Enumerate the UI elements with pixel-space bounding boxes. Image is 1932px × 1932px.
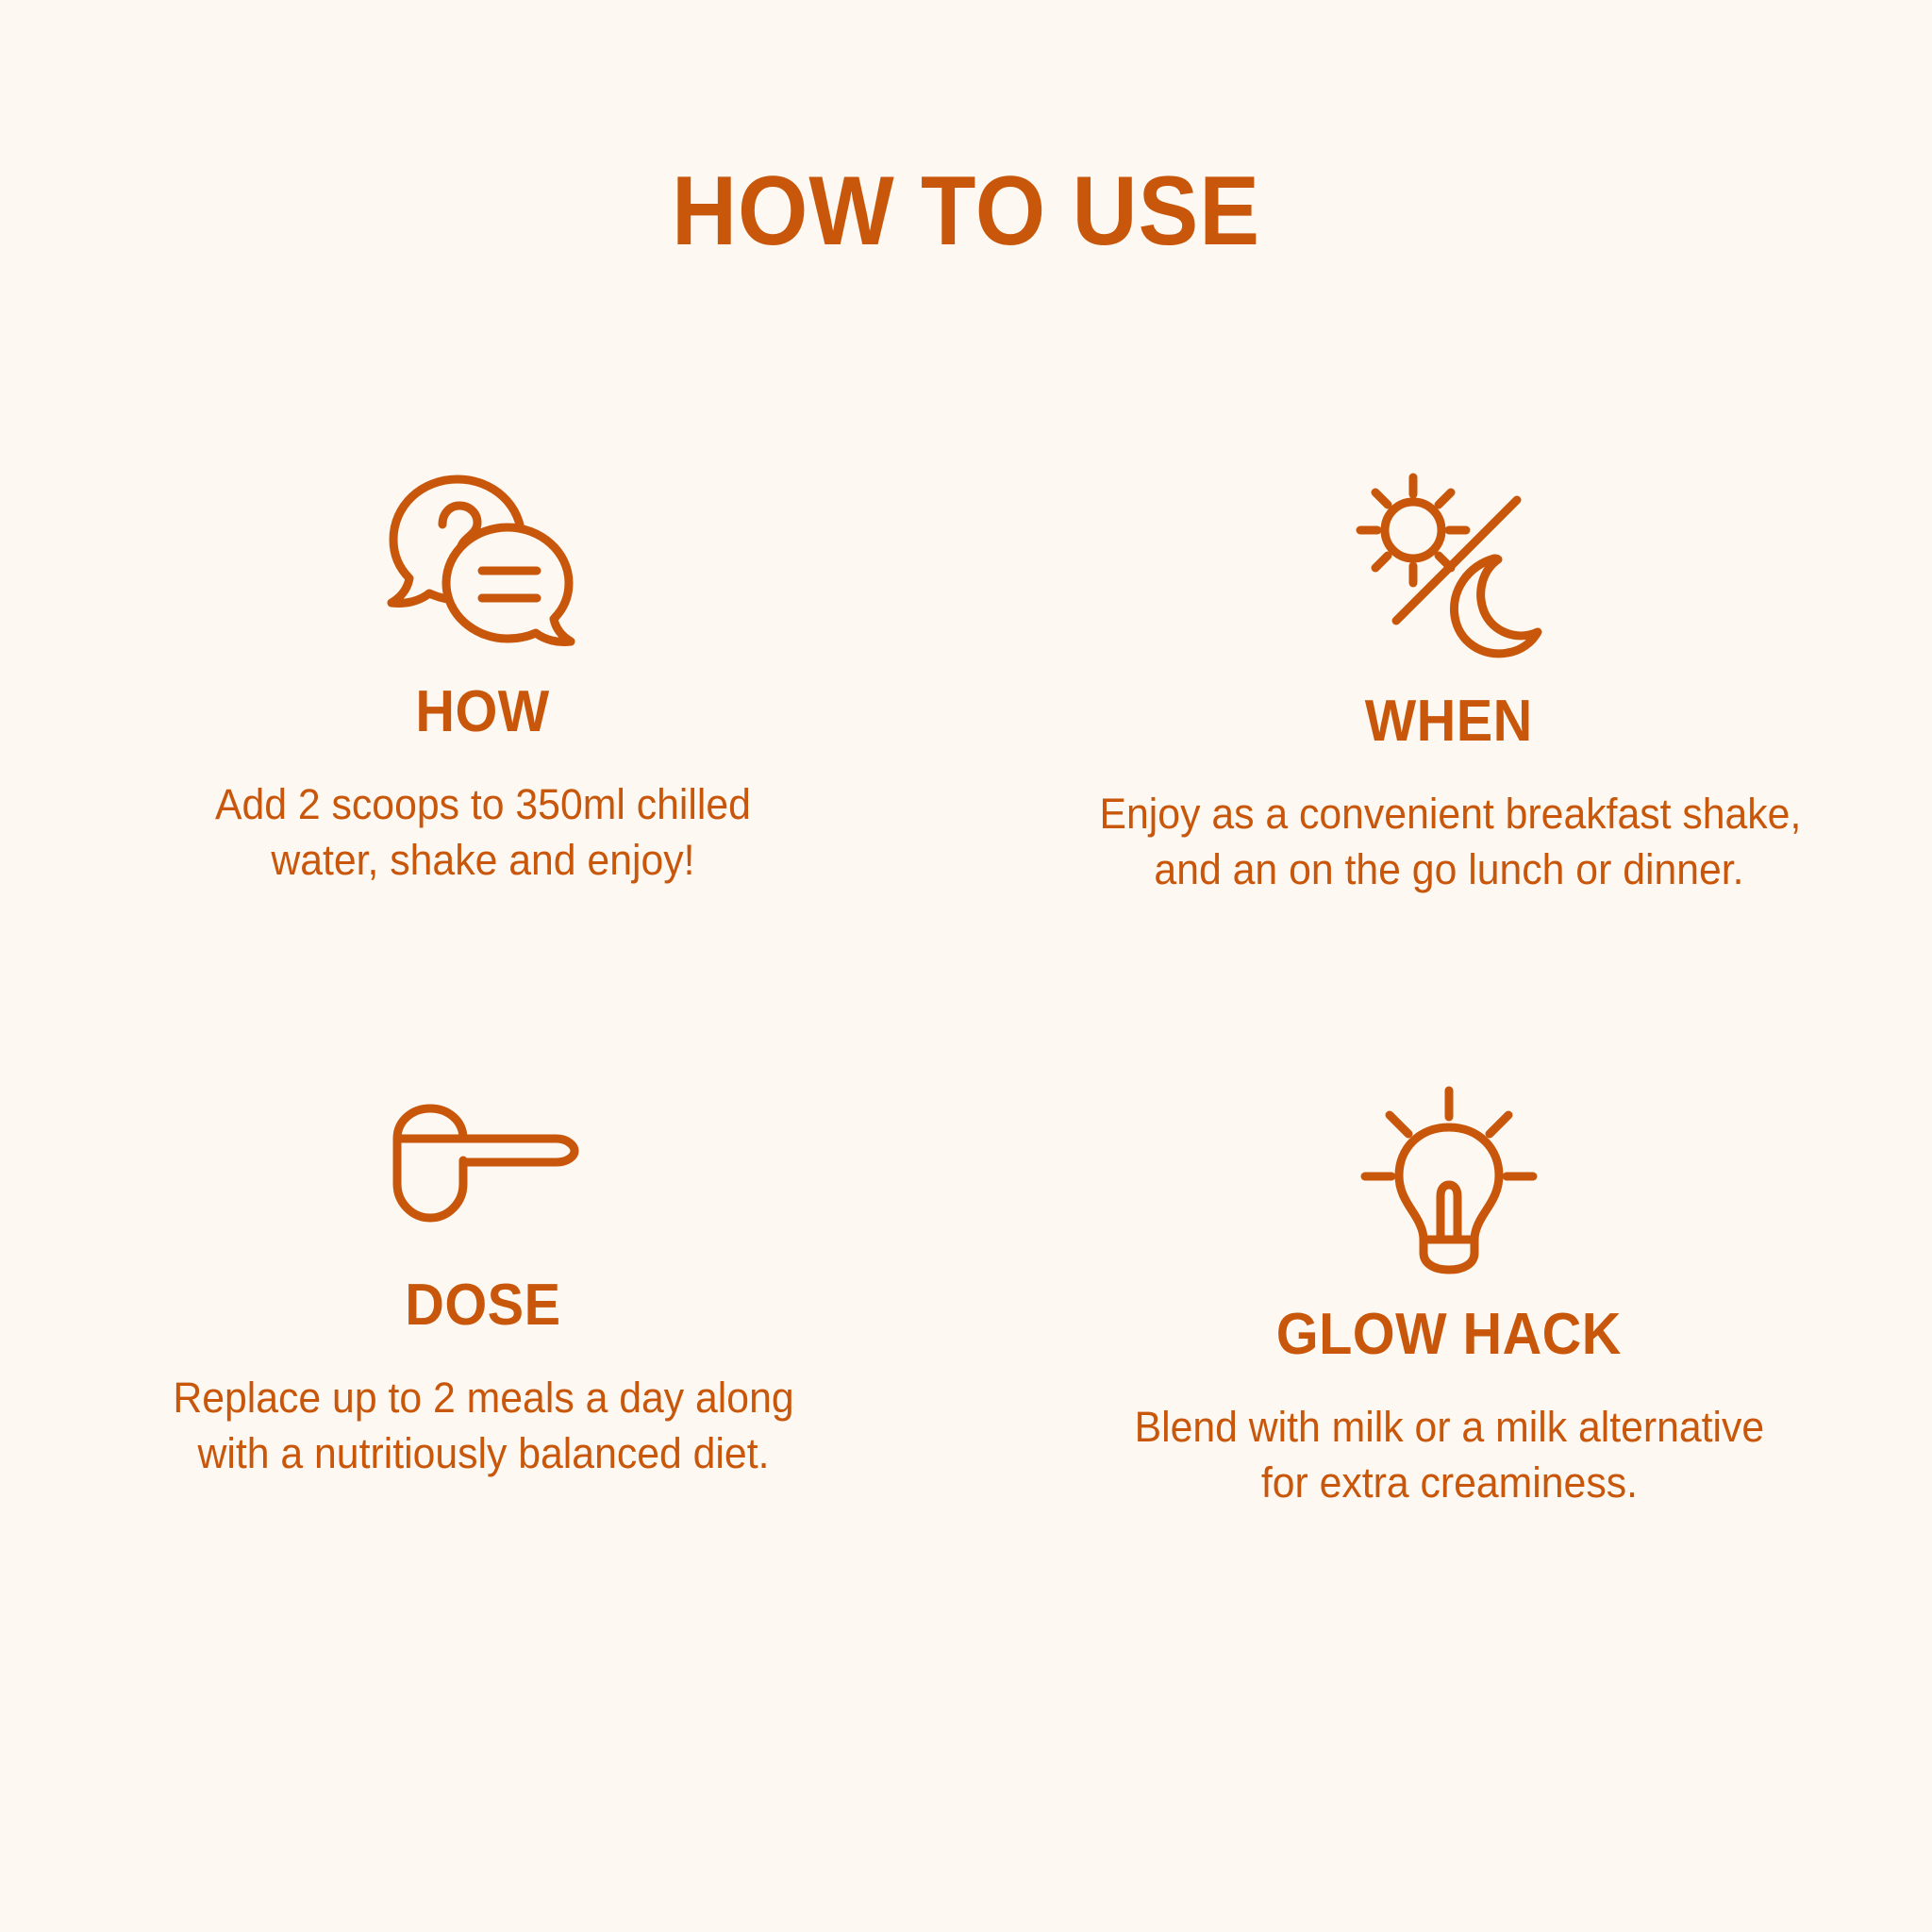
- page-title: HOW TO USE: [77, 158, 1855, 264]
- section-dose: DOSE Replace up to 2 meals a day along w…: [0, 1085, 966, 1481]
- section-body-line: Replace up to 2 meals a day along: [173, 1371, 793, 1426]
- how-to-use-infographic: HOW TO USE HOW Add 2 scoops to 35: [0, 0, 1932, 1932]
- section-body-line: Blend with milk or a milk alternative: [1134, 1400, 1764, 1456]
- section-body-line: Enjoy as a convenient breakfast shake,: [1100, 787, 1799, 842]
- section-body-dose: Replace up to 2 meals a day along with a…: [173, 1371, 793, 1481]
- section-title-glow-hack: GLOW HACK: [1276, 1306, 1622, 1364]
- section-body-when: Enjoy as a convenient breakfast shake, a…: [1100, 787, 1799, 897]
- section-body-how: Add 2 scoops to 350ml chilled water, sha…: [215, 777, 751, 888]
- section-glow-hack: GLOW HACK Blend with milk or a milk alte…: [966, 1085, 1932, 1481]
- section-title-how: HOW: [416, 683, 550, 741]
- section-title-dose: DOSE: [405, 1276, 560, 1335]
- sun-moon-icon: [1355, 472, 1543, 660]
- how-to-use-grid: HOW Add 2 scoops to 350ml chilled water,…: [0, 472, 1932, 1481]
- section-body-glow-hack: Blend with milk or a milk alternative fo…: [1134, 1400, 1764, 1510]
- section-how: HOW Add 2 scoops to 350ml chilled water,…: [0, 472, 966, 868]
- section-body-line: water, shake and enjoy!: [215, 833, 751, 889]
- lightbulb-icon: [1357, 1085, 1541, 1274]
- section-when: WHEN Enjoy as a convenient breakfast sha…: [966, 472, 1932, 868]
- section-body-line: Add 2 scoops to 350ml chilled: [215, 777, 751, 833]
- section-body-line: with a nutritiously balanced diet.: [173, 1426, 793, 1482]
- speech-bubbles-icon: [384, 472, 582, 651]
- section-body-line: and an on the go lunch or dinner.: [1100, 842, 1799, 898]
- measuring-scoop-icon: [382, 1085, 585, 1244]
- section-body-line: for extra creaminess.: [1134, 1456, 1764, 1511]
- section-title-when: WHEN: [1365, 692, 1533, 751]
